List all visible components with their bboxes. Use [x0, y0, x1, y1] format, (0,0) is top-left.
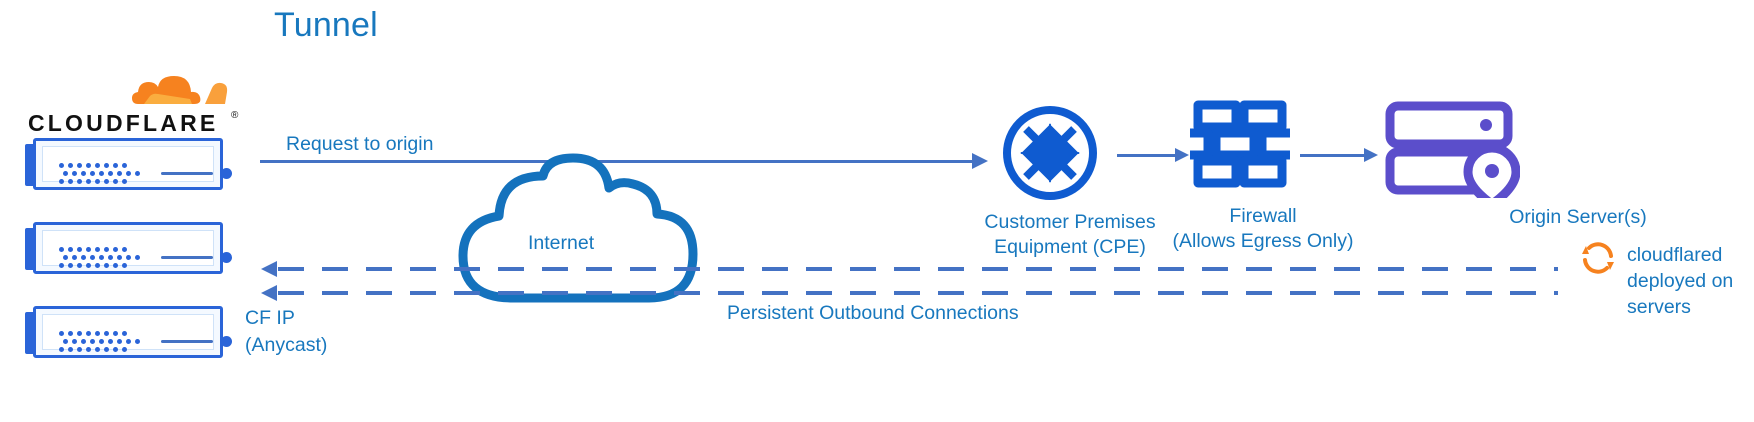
cloudflare-trademark-icon: ®	[231, 110, 238, 121]
persistent-arrowhead-2-icon	[261, 285, 277, 301]
cloudflare-wordmark: CLOUDFLARE	[28, 110, 218, 137]
rack-vent-dots	[59, 247, 143, 269]
firewall-to-origin-arrowhead-icon	[1364, 148, 1378, 162]
tunnel-architecture-diagram: Tunnel CLOUDFLARE ®	[0, 0, 1754, 422]
internet-cloud	[443, 140, 713, 310]
firewall-label-line2: (Allows Egress Only)	[1148, 229, 1378, 254]
sync-arrows-icon	[1578, 238, 1618, 278]
cloudflare-cloud-icon	[120, 66, 230, 108]
brick-wall-icon	[1190, 99, 1290, 191]
cf-ip-label-line1: CF IP	[245, 305, 327, 332]
persistent-connection-line-2	[278, 291, 1558, 295]
rack-inner-panel	[42, 230, 214, 266]
cloudflared-note: cloudflared deployed on servers	[1627, 242, 1733, 320]
rack-vent-dots	[59, 163, 143, 185]
rack-led-icon	[221, 336, 232, 347]
firewall-icon	[1190, 99, 1290, 196]
rack-vent-dots	[59, 331, 143, 353]
cpe-to-firewall-arrowhead-icon	[1175, 148, 1189, 162]
cloudflared-icon	[1578, 238, 1618, 283]
cloudflare-edge-server-1	[25, 138, 225, 192]
rack-status-line	[161, 172, 213, 175]
request-to-origin-label: Request to origin	[286, 132, 433, 157]
persistent-arrowhead-1-icon	[261, 261, 277, 277]
cloudflared-note-line1: cloudflared	[1627, 242, 1733, 268]
converge-arrows-circle-icon	[1000, 103, 1100, 203]
cloudflared-note-line3: servers	[1627, 294, 1733, 320]
rack-body	[33, 222, 223, 274]
rack-led-icon	[221, 252, 232, 263]
origin-server-icon	[1380, 98, 1520, 203]
cpe-icon	[1000, 103, 1100, 208]
rack-body	[33, 138, 223, 190]
rack-inner-panel	[42, 146, 214, 182]
rack-body	[33, 306, 223, 358]
cloud-outline-icon	[443, 140, 713, 305]
cf-ip-label-line2: (Anycast)	[245, 332, 327, 359]
persistent-connection-line-1	[278, 267, 1558, 271]
request-arrowhead-icon	[972, 153, 988, 169]
firewall-to-origin-line	[1300, 154, 1368, 157]
firewall-label: Firewall (Allows Egress Only)	[1148, 204, 1378, 254]
internet-label: Internet	[528, 231, 594, 256]
origin-server-label: Origin Server(s)	[1478, 205, 1678, 230]
server-stack-location-pin-icon	[1380, 98, 1520, 198]
page-title: Tunnel	[274, 6, 378, 45]
rack-led-icon	[221, 168, 232, 179]
cpe-to-firewall-line	[1117, 154, 1179, 157]
cloudflare-edge-server-2	[25, 222, 225, 276]
firewall-label-line1: Firewall	[1148, 204, 1378, 229]
cloudflared-note-line2: deployed on	[1627, 268, 1733, 294]
cloudflare-edge-server-3	[25, 306, 225, 360]
rack-status-line	[161, 340, 213, 343]
rack-status-line	[161, 256, 213, 259]
cloudflare-logo: CLOUDFLARE ®	[28, 74, 236, 136]
persistent-outbound-connections-label: Persistent Outbound Connections	[727, 301, 1019, 326]
cf-ip-label: CF IP (Anycast)	[245, 305, 327, 359]
rack-inner-panel	[42, 314, 214, 350]
